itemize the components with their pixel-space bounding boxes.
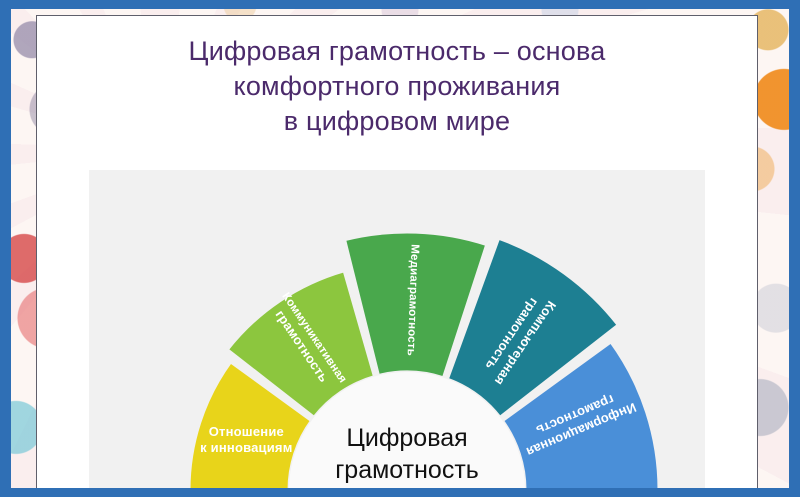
segment-label-line2: к инновациям (200, 440, 292, 455)
digital-literacy-diagram: Отношениек инновациямКоммуникативнаяграм… (89, 170, 705, 490)
frame-edge-left (0, 0, 11, 497)
segment-label-line1: Отношение (209, 424, 284, 439)
frame-edge-bottom (0, 488, 800, 497)
hub-label-line2: грамотность (335, 456, 479, 484)
frame-edge-right (789, 0, 800, 497)
diagram-svg: Отношениек инновациямКоммуникативнаяграм… (89, 170, 705, 490)
slide-frame: Цифровая грамотность – основа комфортног… (0, 0, 800, 497)
hub-label-line1: Цифровая (346, 424, 467, 452)
frame-edge-top (0, 0, 800, 9)
slide-content-card: Цифровая грамотность – основа комфортног… (36, 15, 758, 491)
page-title: Цифровая грамотность – основа комфортног… (37, 16, 757, 139)
